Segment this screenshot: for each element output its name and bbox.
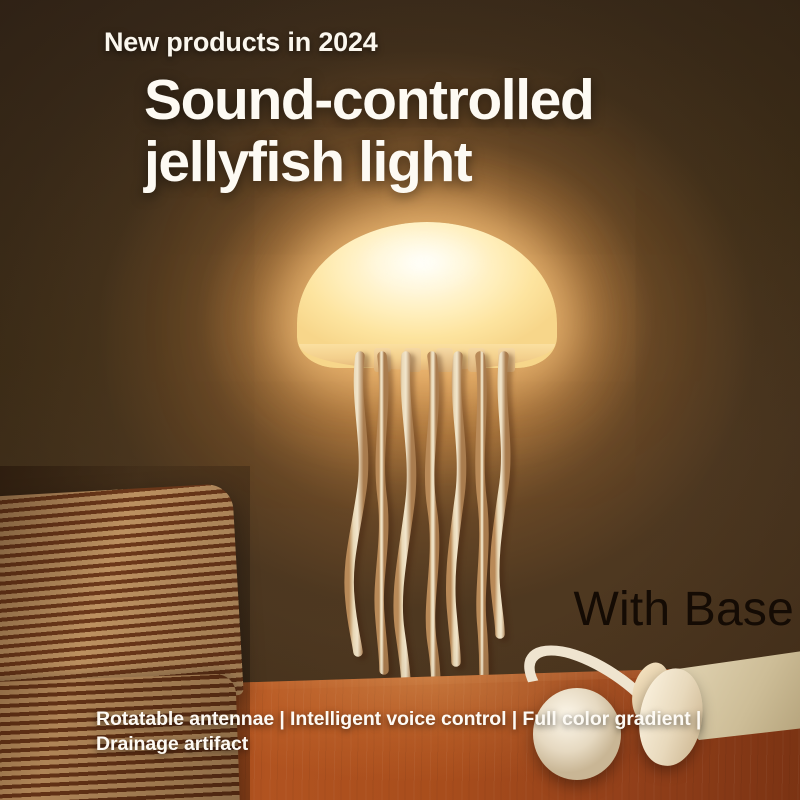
feature-list-text: Rotatable antennae | Intelligent voice c… xyxy=(96,707,726,756)
headline-line-1: Sound-controlled xyxy=(144,70,593,132)
eyebrow-text: New products in 2024 xyxy=(104,27,378,58)
product-ad-image: New products in 2024 Sound-controlled je… xyxy=(0,0,800,800)
page-title: Sound-controlled jellyfish light xyxy=(144,70,593,193)
variant-badge: With Base xyxy=(573,582,794,637)
headline-line-2: jellyfish light xyxy=(144,132,593,194)
